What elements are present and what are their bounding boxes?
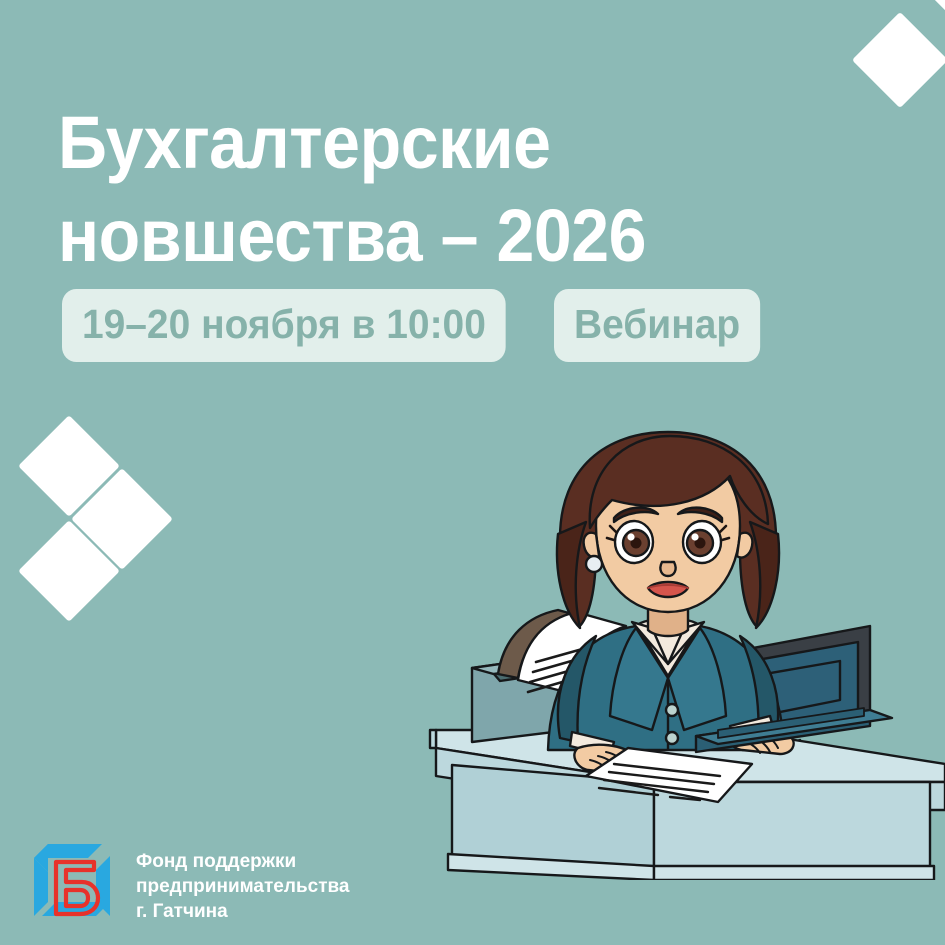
footer-organization-name: Фонд поддержки предпринимательства г. Га… — [136, 849, 350, 924]
accountant-head-graphic — [557, 432, 779, 636]
page-title-line-2: новшества – 2026 — [58, 189, 794, 282]
decor-diamond-top-right-1 — [852, 12, 945, 108]
footer-line-1: Фонд поддержки — [136, 849, 350, 874]
footer-brand: Фонд поддержки предпринимательства г. Га… — [26, 840, 350, 932]
page-title: Бухгалтерские новшества – 2026 — [58, 96, 794, 282]
badge-datetime: 19–20 ноября в 10:00 — [62, 289, 506, 362]
poster-canvas: Бухгалтерские новшества – 2026 19–20 ноя… — [0, 0, 945, 945]
badge-format: Вебинар — [554, 289, 760, 362]
footer-line-3: г. Гатчина — [136, 899, 350, 924]
illustration-accountant-at-desk — [400, 430, 945, 880]
desk-graphic — [430, 730, 945, 880]
badge-row: 19–20 ноября в 10:00 Вебинар — [62, 289, 771, 362]
footer-line-2: предпринимательства — [136, 874, 350, 899]
fond-podderzhki-logo-icon — [26, 840, 118, 932]
page-title-line-1: Бухгалтерские — [58, 96, 794, 189]
decor-diamond-top-right-2 — [927, 0, 945, 40]
